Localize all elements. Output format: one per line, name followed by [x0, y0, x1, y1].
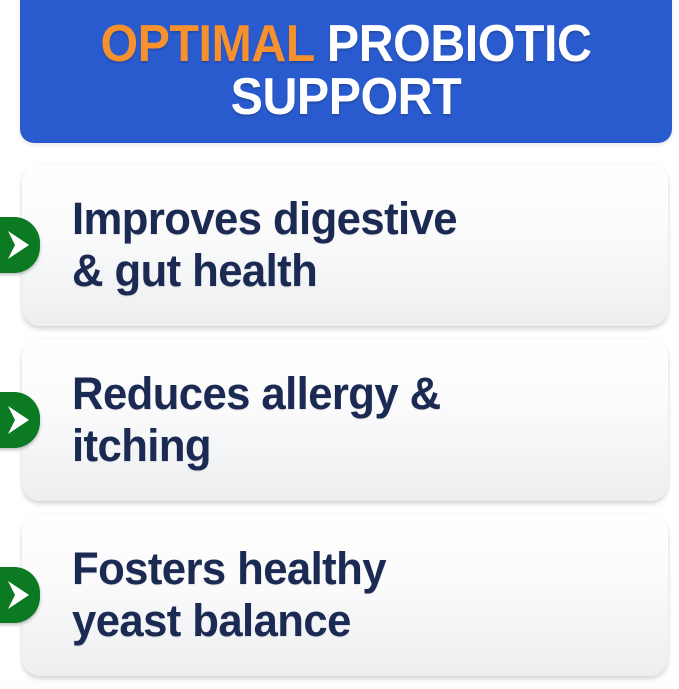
page-title: OPTIMAL PROBIOTIC SUPPORT	[101, 19, 592, 123]
benefit-card-item: Improves digestive & gut health	[0, 164, 679, 326]
benefit-text-1-line2: & gut health	[72, 245, 317, 296]
benefit-card-3[interactable]: Fosters healthy yeast balance	[22, 514, 668, 676]
benefit-text-2: Reduces allergy & itching	[72, 368, 441, 472]
benefit-text-1-line1: Improves digestive	[72, 193, 457, 244]
title-accent-word: OPTIMAL	[101, 15, 314, 73]
benefit-text-1: Improves digestive & gut health	[72, 193, 457, 297]
title-second-line: SUPPORT	[101, 72, 592, 123]
benefit-card-1[interactable]: Improves digestive & gut health	[22, 164, 668, 326]
benefit-card-2[interactable]: Reduces allergy & itching	[22, 339, 668, 501]
benefit-card-item: Fosters healthy yeast balance	[0, 514, 679, 676]
benefit-card-list: Improves digestive & gut health Reduces …	[0, 164, 679, 689]
benefit-card-item: Reduces allergy & itching	[0, 339, 679, 501]
infographic-root: OPTIMAL PROBIOTIC SUPPORT Improves diges…	[0, 0, 679, 682]
benefit-text-2-line2: itching	[72, 420, 211, 471]
title-plain-word: PROBIOTIC	[314, 15, 591, 73]
benefit-text-3-line1: Fosters healthy	[72, 543, 386, 594]
benefit-text-3: Fosters healthy yeast balance	[72, 543, 386, 647]
header-banner: OPTIMAL PROBIOTIC SUPPORT	[20, 0, 672, 143]
benefit-text-2-line1: Reduces allergy &	[72, 368, 441, 419]
benefit-text-3-line2: yeast balance	[72, 595, 351, 646]
